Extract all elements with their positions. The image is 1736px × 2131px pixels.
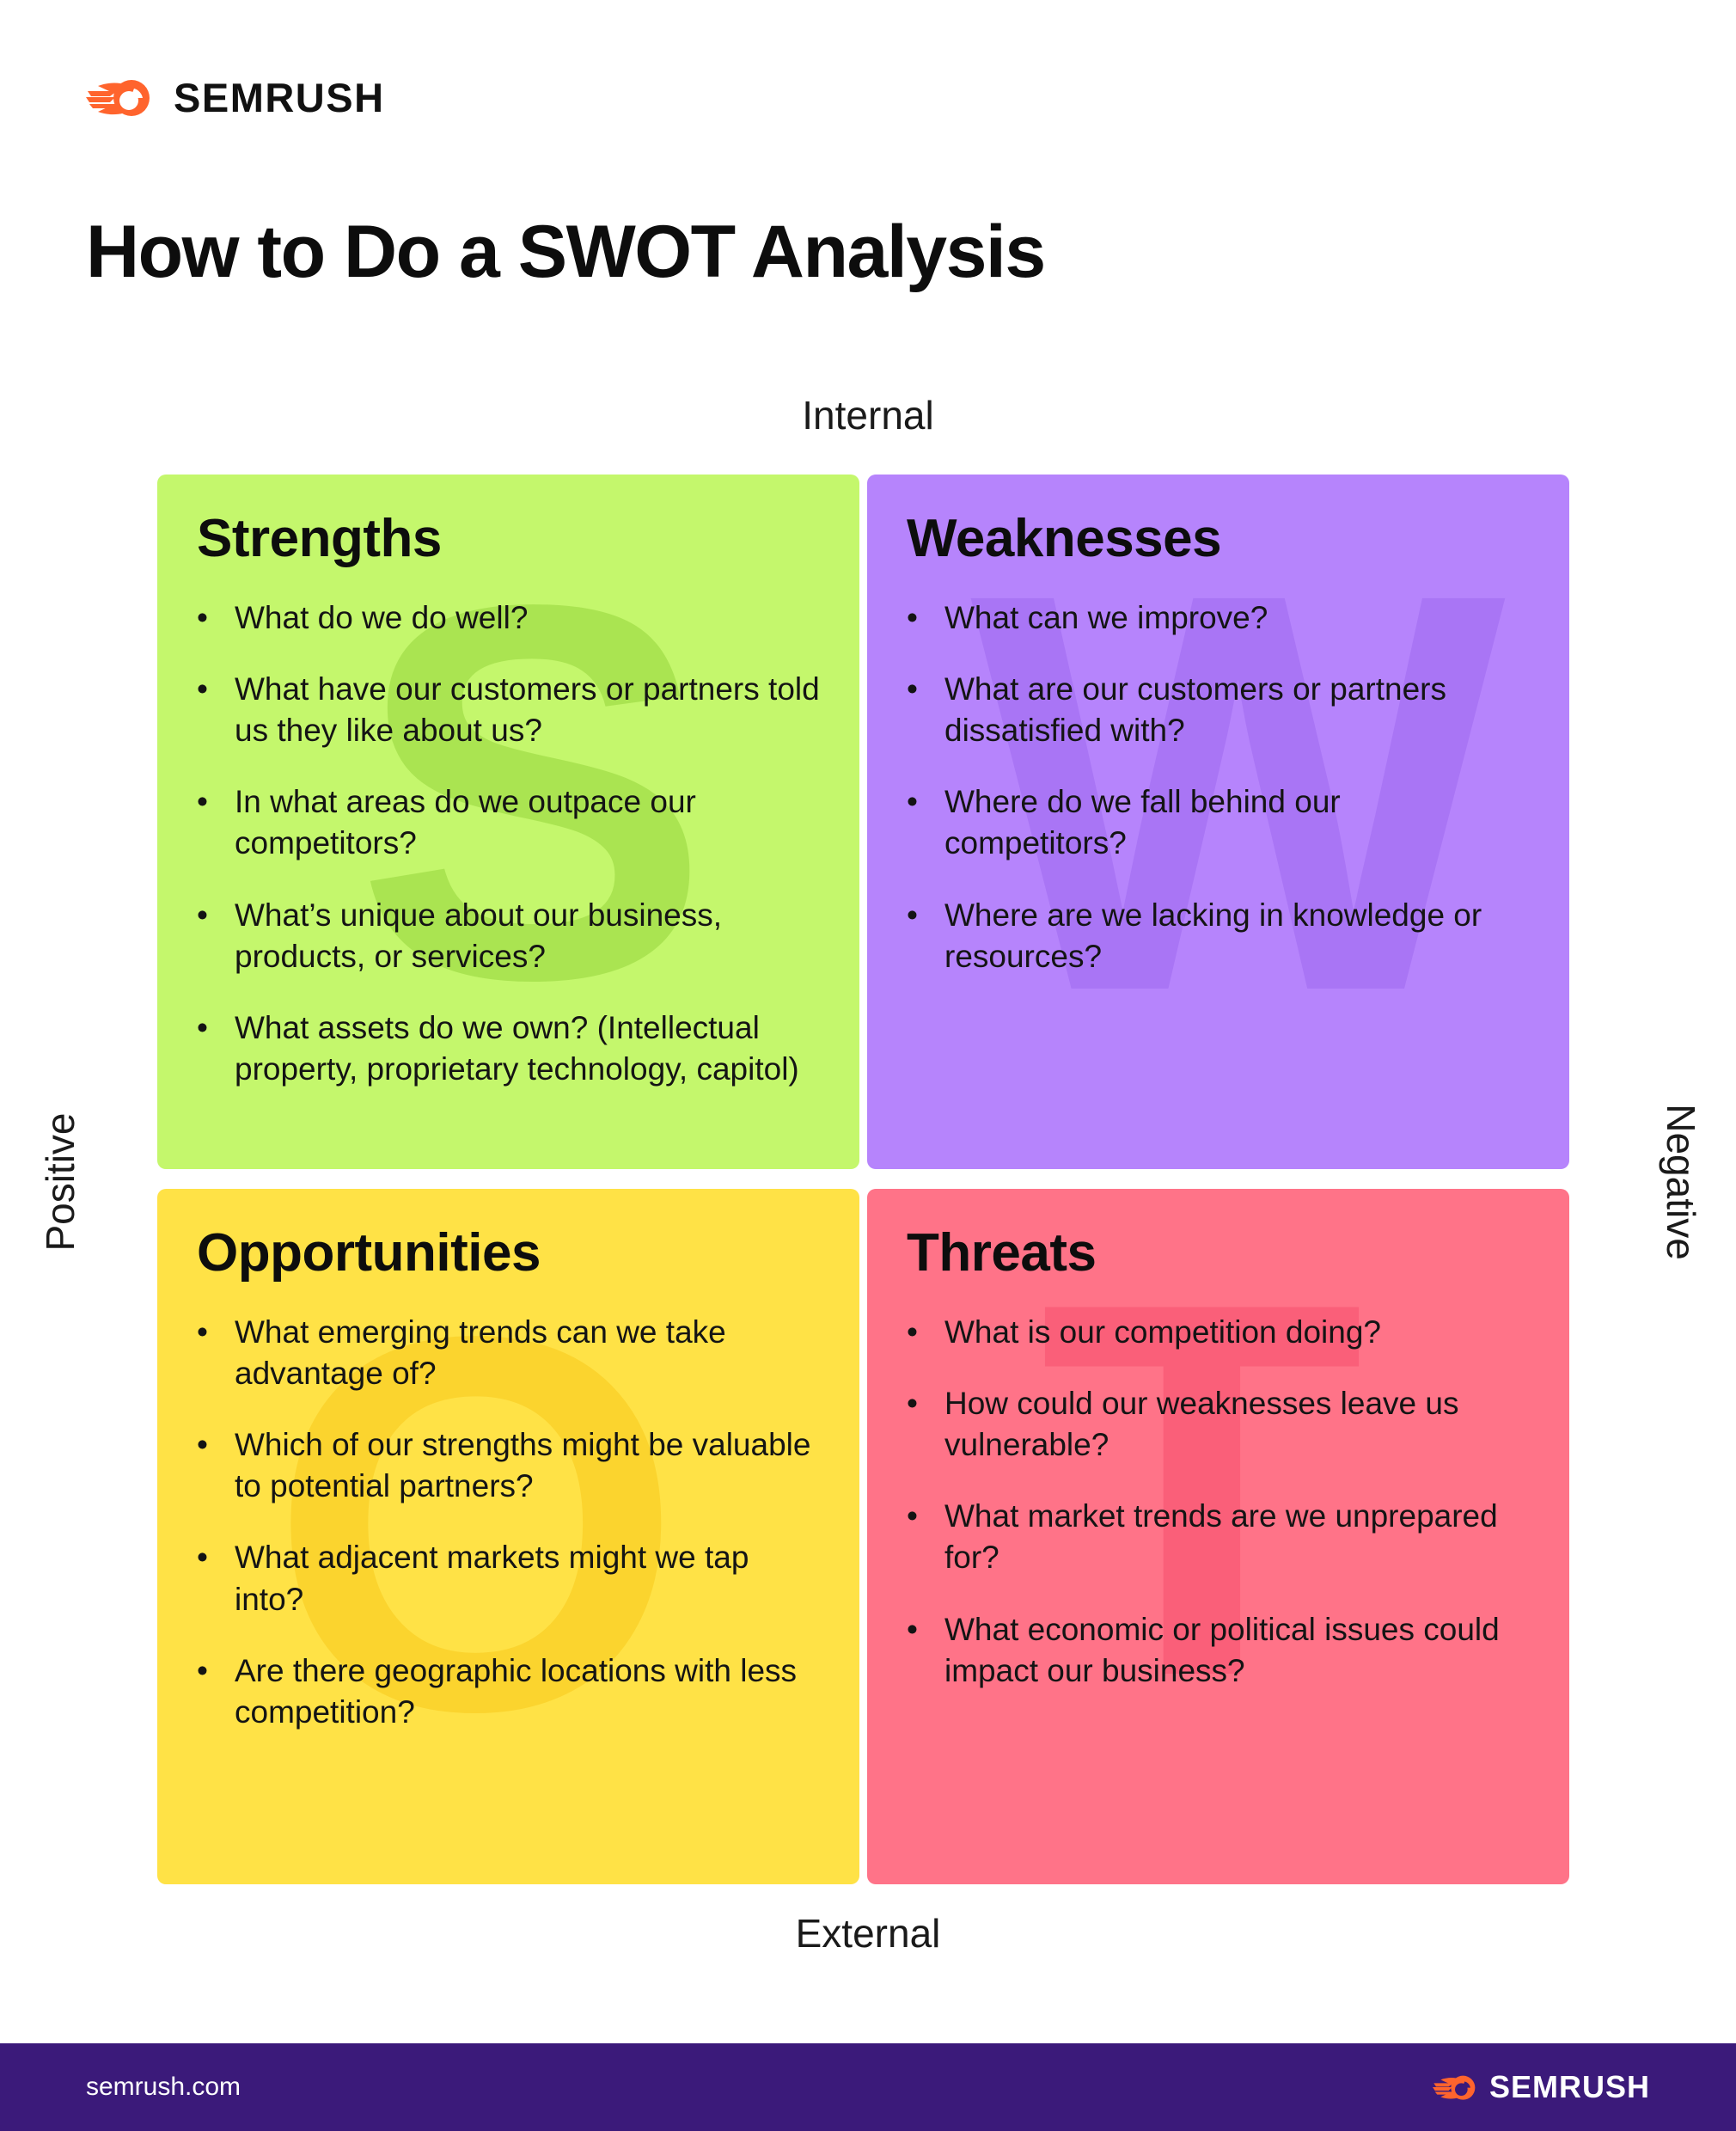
quadrant-list-weaknesses: • What can we improve? • What are our cu…: [907, 597, 1530, 977]
bullet-icon: •: [907, 781, 944, 823]
bullet-icon: •: [907, 895, 944, 936]
bullet-icon: •: [907, 1383, 944, 1424]
bullet-icon: •: [907, 1496, 944, 1537]
bullet-icon: •: [907, 669, 944, 710]
list-item-text: What’s unique about our business, produc…: [235, 895, 820, 977]
list-item-text: What emerging trends can we take advanta…: [235, 1312, 820, 1394]
bullet-icon: •: [197, 1312, 235, 1353]
list-item-text: How could our weaknesses leave us vulner…: [944, 1383, 1530, 1466]
axis-label-negative: Negative: [1658, 1053, 1704, 1311]
list-item-text: What economic or political issues could …: [944, 1609, 1530, 1692]
bullet-icon: •: [197, 781, 235, 823]
quadrant-opportunities: O Opportunities • What emerging trends c…: [157, 1189, 859, 1884]
list-item-text: What are our customers or partners dissa…: [944, 669, 1530, 751]
list-item-text: What have our customers or partners told…: [235, 669, 820, 751]
list-item-text: What adjacent markets might we tap into?: [235, 1537, 820, 1620]
list-item-text: Are there geographic locations with less…: [235, 1650, 820, 1733]
semrush-comet-icon: [1433, 2073, 1477, 2102]
list-item-text: In what areas do we outpace our competit…: [235, 781, 820, 864]
bullet-icon: •: [197, 1650, 235, 1692]
footer-brand-name: SEMRUSH: [1489, 2069, 1650, 2105]
list-item: • Where do we fall behind our competitor…: [907, 781, 1530, 864]
list-item-text: What market trends are we unprepared for…: [944, 1496, 1530, 1578]
axis-label-internal: Internal: [0, 392, 1736, 438]
footer-url[interactable]: semrush.com: [86, 2073, 241, 2102]
quadrant-strengths: S Strengths • What do we do well? • What…: [157, 475, 859, 1169]
list-item-text: Which of our strengths might be valuable…: [235, 1424, 820, 1507]
page-title: How to Do a SWOT Analysis: [86, 213, 1045, 291]
list-item-text: Where do we fall behind our competitors?: [944, 781, 1530, 864]
list-item-text: What assets do we own? (Intellectual pro…: [235, 1007, 820, 1090]
quadrant-list-threats: • What is our competition doing? • How c…: [907, 1312, 1530, 1692]
bullet-icon: •: [197, 669, 235, 710]
swot-infographic: SEMRUSH How to Do a SWOT Analysis Intern…: [0, 0, 1736, 2131]
bullet-icon: •: [907, 1312, 944, 1353]
list-item-text: What can we improve?: [944, 597, 1530, 639]
list-item: • Are there geographic locations with le…: [197, 1650, 820, 1733]
quadrant-title-weaknesses: Weaknesses: [907, 511, 1530, 566]
list-item: • In what areas do we outpace our compet…: [197, 781, 820, 864]
bullet-icon: •: [197, 597, 235, 639]
list-item: • How could our weaknesses leave us vuln…: [907, 1383, 1530, 1466]
list-item: • Which of our strengths might be valuab…: [197, 1424, 820, 1507]
axis-label-external: External: [0, 1910, 1736, 1956]
list-item: • What economic or political issues coul…: [907, 1609, 1530, 1692]
list-item: • What assets do we own? (Intellectual p…: [197, 1007, 820, 1090]
brand-name: SEMRUSH: [174, 77, 385, 118]
list-item: • What do we do well?: [197, 597, 820, 639]
list-item-text: What is our competition doing?: [944, 1312, 1530, 1353]
bullet-icon: •: [197, 1424, 235, 1466]
quadrant-weaknesses: W Weaknesses • What can we improve? • Wh…: [867, 475, 1569, 1169]
bullet-icon: •: [907, 1609, 944, 1650]
swot-matrix: S Strengths • What do we do well? • What…: [157, 475, 1569, 1884]
bullet-icon: •: [197, 895, 235, 936]
list-item: • What market trends are we unprepared f…: [907, 1496, 1530, 1578]
list-item: • What is our competition doing?: [907, 1312, 1530, 1353]
list-item: • What adjacent markets might we tap int…: [197, 1537, 820, 1620]
list-item: • What emerging trends can we take advan…: [197, 1312, 820, 1394]
axis-label-positive: Positive: [37, 1053, 83, 1311]
list-item: • Where are we lacking in knowledge or r…: [907, 895, 1530, 977]
list-item: • What can we improve?: [907, 597, 1530, 639]
footer-bar: semrush.com SEMRUSH: [0, 2043, 1736, 2131]
list-item-text: What do we do well?: [235, 597, 820, 639]
bullet-icon: •: [197, 1537, 235, 1578]
list-item: • What’s unique about our business, prod…: [197, 895, 820, 977]
bullet-icon: •: [197, 1007, 235, 1049]
brand-header: SEMRUSH: [86, 76, 385, 119]
quadrant-title-opportunities: Opportunities: [197, 1225, 820, 1281]
footer-brand-logo: SEMRUSH: [1433, 2069, 1650, 2105]
list-item: • What have our customers or partners to…: [197, 669, 820, 751]
quadrant-threats: T Threats • What is our competition doin…: [867, 1189, 1569, 1884]
list-item: • What are our customers or partners dis…: [907, 669, 1530, 751]
list-item-text: Where are we lacking in knowledge or res…: [944, 895, 1530, 977]
quadrant-title-threats: Threats: [907, 1225, 1530, 1281]
bullet-icon: •: [907, 597, 944, 639]
quadrant-list-strengths: • What do we do well? • What have our cu…: [197, 597, 820, 1090]
semrush-comet-icon: [86, 76, 153, 119]
quadrant-title-strengths: Strengths: [197, 511, 820, 566]
quadrant-list-opportunities: • What emerging trends can we take advan…: [197, 1312, 820, 1733]
